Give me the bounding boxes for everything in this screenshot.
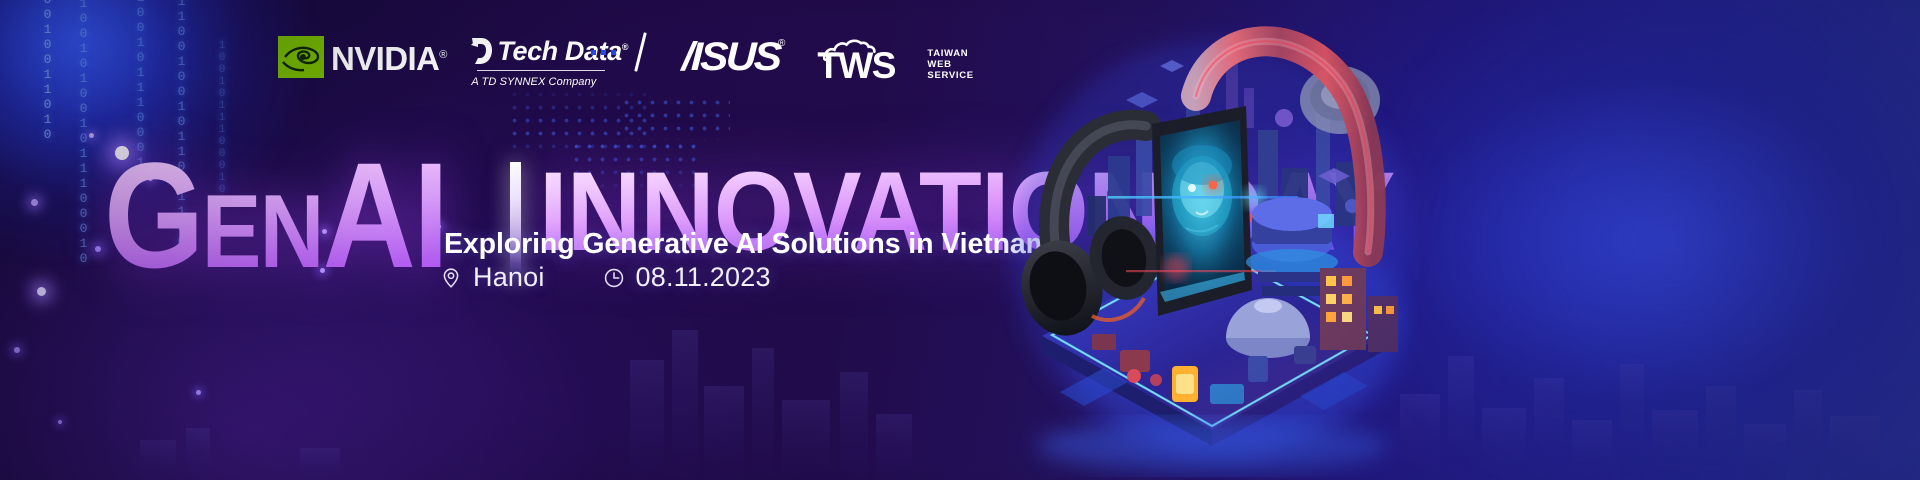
tws-line-2: WEB (927, 60, 973, 70)
tech-data-tagline: A TD SYNNEX Company (471, 76, 596, 88)
genai-logotype: GENAI (104, 140, 446, 290)
registered-mark: ® (778, 38, 785, 49)
ai-face-icon (1172, 145, 1232, 236)
ai-isometric-city-illustration (1000, 0, 1420, 480)
clock-icon (603, 266, 625, 290)
nvidia-eye-icon (278, 36, 324, 78)
halftone-dots-lower (620, 96, 730, 140)
event-banner: 0010011010 100101001011100010 1001011100… (0, 0, 1920, 480)
logo-asus[interactable]: /ISUS ® (682, 36, 781, 78)
tws-descriptor: TAIWAN WEB SERVICE (927, 49, 973, 84)
nvidia-wordmark: NVIDIA® (331, 42, 447, 75)
binary-stream: 100101001011100010 (76, 0, 91, 266)
logo-tws[interactable]: TWS TAIWAN WEB SERVICE (817, 36, 973, 84)
genai-g: G (104, 131, 202, 299)
tech-data-slash (634, 32, 647, 72)
tech-data-d-icon (471, 36, 491, 66)
tablet-screen (1152, 106, 1252, 316)
tws-line-3: SERVICE (927, 71, 973, 81)
event-meta-row: Hanoi 08.11.2023 (440, 262, 771, 293)
genai-ai: AI (323, 131, 447, 299)
partner-logo-row: NVIDIA® Tech Data® A TD SYNNEX Company (278, 36, 974, 92)
tws-wordmark: TWS (817, 47, 894, 84)
date-label: 08.11.2023 (636, 262, 771, 293)
registered-mark: ® (439, 49, 447, 61)
tech-data-rule (477, 70, 605, 71)
event-date: 08.11.2023 (603, 262, 771, 293)
tws-line-1: TAIWAN (927, 49, 973, 59)
location-label: Hanoi (473, 262, 545, 293)
binary-stream: 0010011010 (40, 0, 55, 142)
city-skyline-silhouette (0, 290, 1920, 480)
registered-mark: ® (622, 42, 628, 52)
logo-tech-data[interactable]: Tech Data® A TD SYNNEX Company (471, 36, 628, 88)
page-subtitle: Exploring Generative AI Solutions in Vie… (444, 228, 1051, 261)
genai-en: EN (202, 174, 323, 290)
tech-data-dots (591, 50, 616, 55)
location-pin-icon (440, 266, 462, 290)
logo-nvidia[interactable]: NVIDIA® (278, 36, 447, 78)
asus-wordmark: /ISUS (681, 37, 780, 77)
event-location: Hanoi (440, 262, 545, 293)
